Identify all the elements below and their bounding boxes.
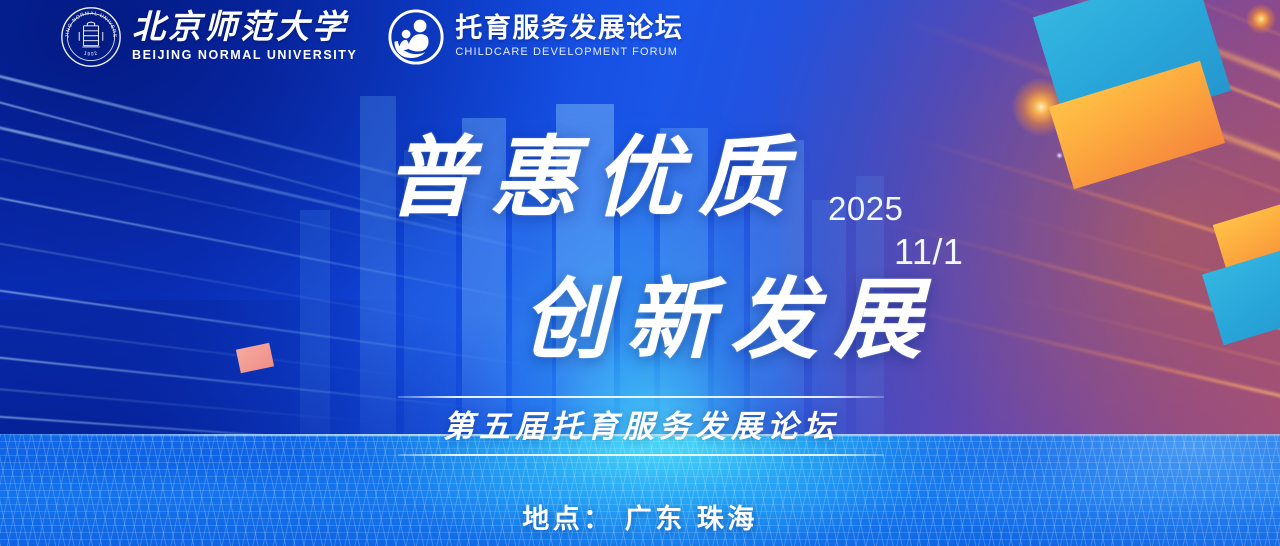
light-ray	[0, 218, 471, 328]
glow-dot	[1246, 4, 1276, 34]
headline-line-1: 普惠优质	[386, 136, 802, 224]
university-wordmark: 北京师范大学 BEIJING NORMAL UNIVERSITY	[132, 11, 357, 62]
light-ray	[0, 170, 547, 306]
light-streak	[897, 15, 1280, 180]
glow-dot	[1152, 58, 1192, 98]
glow-dot-small	[1070, 132, 1079, 141]
forum-name-en: CHILDCARE DEVELOPMENT FORUM	[455, 46, 683, 59]
event-year: 2025	[828, 192, 963, 225]
light-ray	[0, 128, 486, 263]
glow-dot-small	[1056, 152, 1063, 159]
light-streak	[952, 281, 1280, 380]
background-bar	[300, 210, 330, 468]
pink-card-left	[236, 343, 274, 374]
event-day: 11/1	[894, 234, 963, 270]
subtitle-block: 第五届托育服务发展论坛	[398, 396, 884, 456]
light-ray	[0, 94, 562, 259]
subtitle-text: 第五届托育服务发展论坛	[398, 398, 884, 454]
header-logos: BEIJING NORMAL UNIVERSITY 1902 北京师范大学 BE…	[60, 6, 683, 68]
orange-card-low	[1213, 189, 1280, 276]
glow-dot	[1012, 78, 1070, 136]
light-streak	[938, 0, 1280, 101]
orange-card-top	[1049, 61, 1225, 189]
light-streak	[1061, 0, 1280, 60]
event-date: 2025 11/1	[828, 192, 963, 270]
subtitle-rule-bottom	[398, 454, 884, 456]
university-name-cn: 北京师范大学	[132, 11, 357, 45]
light-streak	[966, 0, 1280, 131]
glow-dot	[1070, 28, 1114, 72]
university-name-en: BEIJING NORMAL UNIVERSITY	[132, 48, 357, 63]
forum-banner: BEIJING NORMAL UNIVERSITY 1902 北京师范大学 BE…	[0, 0, 1280, 546]
svg-text:1902: 1902	[83, 50, 99, 57]
headline-line-2: 创新发展	[522, 278, 938, 366]
cyan-card-low	[1202, 237, 1280, 346]
light-ray	[0, 308, 416, 378]
childcare-figures-icon	[387, 8, 445, 66]
event-location: 地点： 广东 珠海	[0, 497, 1280, 536]
light-ray	[0, 270, 534, 367]
glow-dot-small	[1062, 62, 1071, 71]
glow-dot	[1166, 112, 1200, 146]
light-streak	[882, 302, 1280, 411]
background-bar	[360, 96, 396, 468]
light-rays-left	[0, 20, 620, 450]
forum-wordmark: 托育服务发展论坛 CHILDCARE DEVELOPMENT FORUM	[455, 14, 683, 59]
bnu-seal-icon: BEIJING NORMAL UNIVERSITY 1902	[60, 6, 122, 68]
glow-dot	[1108, 90, 1146, 128]
light-ray	[0, 64, 498, 237]
light-streak	[926, 190, 1280, 310]
cyan-card-top	[1033, 0, 1231, 140]
forum-logo: 托育服务发展论坛 CHILDCARE DEVELOPMENT FORUM	[387, 8, 683, 66]
light-streak	[983, 82, 1280, 214]
light-ray	[0, 376, 378, 423]
university-logo: BEIJING NORMAL UNIVERSITY 1902 北京师范大学 BE…	[60, 6, 357, 68]
forum-name-cn: 托育服务发展论坛	[455, 14, 683, 43]
